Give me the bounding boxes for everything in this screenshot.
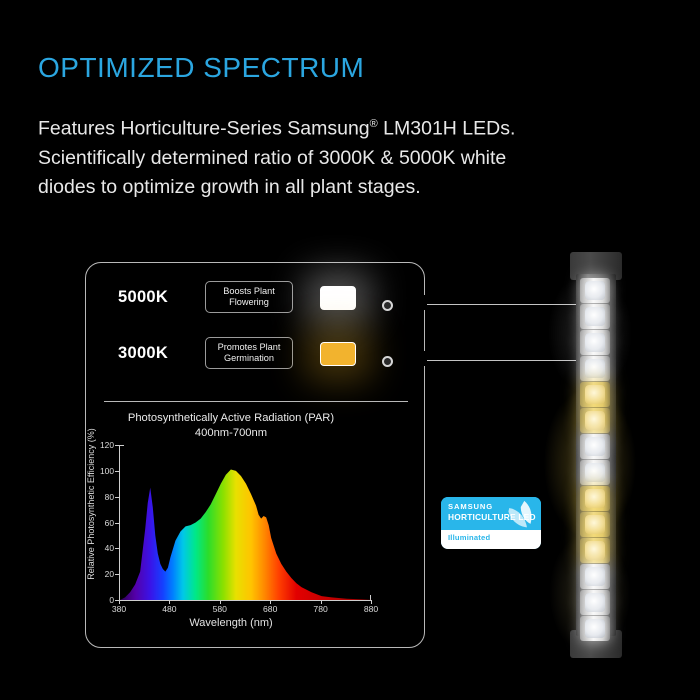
chart-x-tick-mark [220, 600, 221, 604]
chart-x-axis [119, 600, 371, 601]
benefit-line-2: Germination [218, 353, 281, 365]
led-bar-fixture [566, 252, 630, 658]
benefit-line-1: Boosts Plant [223, 286, 275, 298]
swatch-wrap-5000k [311, 278, 371, 318]
led-chip [585, 593, 605, 612]
connector-dot-3000k [382, 356, 393, 367]
led-chip [585, 333, 605, 352]
chart-y-tick-mark [115, 445, 119, 446]
led-chip [585, 541, 605, 560]
chart-x-tick-mark [270, 600, 271, 604]
led-chip [585, 515, 605, 534]
led-chip [585, 281, 605, 300]
chart-y-tick-label: 20 [105, 569, 114, 579]
chart-x-tick-mark [371, 600, 372, 604]
chart-plot-area: 020406080100120380480580680780880 [119, 445, 371, 600]
badge-bottom-section: Illuminated [441, 530, 541, 549]
benefit-box-5000k: Boosts Plant Flowering [205, 281, 293, 313]
led-chip [585, 619, 605, 638]
chart-x-tick-label: 380 [112, 604, 126, 614]
chart-x-tick-mark [321, 600, 322, 604]
led-diode-3000k [580, 382, 610, 407]
chart-x-tick-label: 780 [313, 604, 327, 614]
samsung-horticulture-badge: SAMSUNG HORTICULTURE LED Illuminated [441, 497, 541, 549]
warm-3000k-swatch [320, 342, 356, 366]
chart-y-tick-label: 100 [100, 466, 114, 476]
led-diode-5000k [580, 330, 610, 355]
chart-x-tick-label: 480 [162, 604, 176, 614]
chart-x-tick-mark [119, 600, 120, 604]
description-line-1a: Features Horticulture-Series Samsung [38, 118, 370, 140]
chart-x-tick-label: 580 [213, 604, 227, 614]
chart-x-tick-label: 880 [364, 604, 378, 614]
kelvin-label-5000k: 5000K [118, 288, 194, 307]
chart-y-tick-label: 80 [105, 492, 114, 502]
led-diode-5000k [580, 356, 610, 381]
led-chip [585, 463, 605, 482]
led-diode-3000k [580, 486, 610, 511]
chart-y-tick-label: 120 [100, 440, 114, 450]
led-diode-3000k [580, 538, 610, 563]
benefit-line-2: Flowering [223, 297, 275, 309]
connector-dot-5000k [382, 300, 393, 311]
description-line-2: Scientifically determined ratio of 3000K… [38, 144, 648, 173]
kelvin-label-3000k: 3000K [118, 344, 194, 363]
chart-y-tick-mark [115, 548, 119, 549]
led-chip [585, 385, 605, 404]
chart-y-axis-label: Relative Photosynthetic Efficiency (%) [86, 424, 96, 584]
chart-x-axis-label: Wavelength (nm) [73, 617, 389, 629]
chart-x-tick-mark [169, 600, 170, 604]
registered-trademark-icon: ® [370, 118, 378, 130]
benefit-box-3000k: Promotes Plant Germination [205, 337, 293, 369]
badge-top-section: SAMSUNG HORTICULTURE LED [441, 497, 541, 530]
white-5000k-swatch [320, 286, 356, 310]
led-diode-3000k [580, 408, 610, 433]
kelvin-row-5000k: 5000K Boosts Plant Flowering [86, 278, 426, 318]
chart-title-main: Photosynthetically Active Radiation (PAR… [73, 411, 389, 426]
chart-y-tick-label: 60 [105, 518, 114, 528]
led-chip [585, 411, 605, 430]
description-line-3: diodes to optimize growth in all plant s… [38, 173, 648, 202]
led-diode-5000k [580, 304, 610, 329]
description-line-1b: LM301H LEDs. [378, 118, 516, 140]
page-title: OPTIMIZED SPECTRUM [38, 52, 364, 84]
chart-y-tick-label: 40 [105, 543, 114, 553]
chart-y-tick-mark [115, 497, 119, 498]
description-line-1: Features Horticulture-Series Samsung® LM… [38, 110, 648, 144]
chart-title: Photosynthetically Active Radiation (PAR… [73, 411, 389, 440]
chart-y-tick-mark [115, 574, 119, 575]
led-diode-5000k [580, 564, 610, 589]
kelvin-row-3000k: 3000K Promotes Plant Germination [86, 334, 426, 374]
led-diode-3000k [580, 512, 610, 537]
par-chart: Photosynthetically Active Radiation (PAR… [73, 411, 389, 637]
chart-y-tick-mark [115, 471, 119, 472]
chart-y-tick-mark [115, 523, 119, 524]
swatch-wrap-3000k [311, 334, 371, 374]
led-diode-5000k [580, 616, 610, 641]
led-diode-5000k [580, 590, 610, 615]
panel-divider [104, 401, 408, 402]
led-chip [585, 489, 605, 508]
led-chip [585, 359, 605, 378]
led-chip [585, 307, 605, 326]
chart-x-tick-label: 680 [263, 604, 277, 614]
led-chip [585, 567, 605, 586]
optimized-spectrum-infographic: OPTIMIZED SPECTRUM Features Horticulture… [0, 0, 700, 700]
leaf-icon [501, 500, 537, 530]
led-diode-5000k [580, 460, 610, 485]
led-diode-5000k [580, 278, 610, 303]
led-diode-5000k [580, 434, 610, 459]
led-chip [585, 437, 605, 456]
spectrum-panel: 5000K Boosts Plant Flowering 3000K Promo… [85, 262, 425, 648]
benefit-line-1: Promotes Plant [218, 342, 281, 354]
chart-subtitle: 400nm-700nm [73, 426, 389, 441]
description-text: Features Horticulture-Series Samsung® LM… [38, 110, 648, 202]
badge-status-label: Illuminated [448, 533, 541, 542]
spectrum-curve [120, 445, 372, 600]
